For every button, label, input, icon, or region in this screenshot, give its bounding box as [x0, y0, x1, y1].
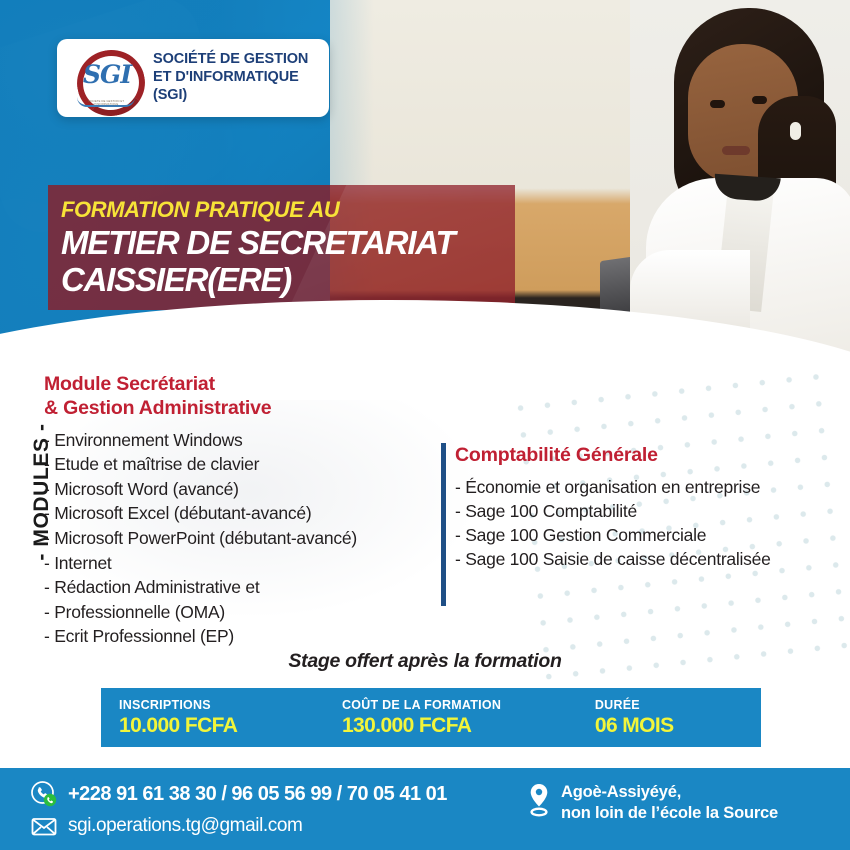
title-banner: FORMATION PRATIQUE AU METIER DE SECRETAR… [48, 185, 515, 310]
list-item: - Microsoft Excel (débutant-avancé) [44, 501, 444, 526]
pricing-bar: INSCRIPTIONS 10.000 FCFA COÛT DE LA FORM… [101, 688, 761, 747]
price-value: 10.000 FCFA [119, 714, 332, 738]
left-module-list: - Environnement Windows - Etude et maîtr… [44, 428, 444, 649]
address-line-2: non loin de l’école la Source [561, 803, 778, 824]
list-item: - Rédaction Administrative et [44, 575, 444, 600]
logo-microtext: SOCIETE DE GESTION ET D'INFORMATIQUE [77, 100, 135, 106]
price-value: 06 MOIS [595, 714, 761, 738]
price-label: DURÉE [595, 698, 761, 712]
list-item: - Etude et maîtrise de clavier [44, 452, 444, 477]
right-column-heading: Comptabilité Générale [455, 443, 845, 467]
list-item: - Professionnelle (OMA) [44, 600, 444, 625]
list-item: - Économie et organisation en entreprise [455, 476, 845, 500]
list-item: - Sage 100 Gestion Commerciale [455, 524, 845, 548]
left-heading-line2: & Gestion Administrative [44, 396, 444, 420]
title-main: METIER DE SECRETARIAT CAISSIER(ERE) [61, 225, 515, 298]
email-address: sgi.operations.tg@gmail.com [68, 815, 302, 837]
left-heading-line1: Module Secrétariat [44, 372, 444, 396]
list-item: - Microsoft PowerPoint (débutant-avancé) [44, 526, 444, 551]
title-kicker: FORMATION PRATIQUE AU [61, 197, 515, 223]
price-cell-duree: DURÉE 06 MOIS [587, 698, 761, 738]
logo-initials: SGI [74, 60, 140, 89]
price-label: COÛT DE LA FORMATION [342, 698, 587, 712]
internship-note: Stage offert après la formation [0, 650, 850, 673]
footer-contact-right[interactable]: Agoè-Assiyéyé, non loin de l’école la So… [527, 782, 778, 824]
poster-canvas: SGI SOCIETE DE GESTION ET D'INFORMATIQUE… [0, 0, 850, 850]
list-item: - Ecrit Professionnel (EP) [44, 624, 444, 649]
whatsapp-phone-icon [30, 780, 58, 808]
address-block: Agoè-Assiyéyé, non loin de l’école la So… [561, 782, 778, 824]
phone-number: +228 91 61 38 30 / 96 05 56 99 / 70 05 4… [68, 783, 447, 806]
list-item: - Sage 100 Comptabilité [455, 500, 845, 524]
phone-row[interactable]: +228 91 61 38 30 / 96 05 56 99 / 70 05 4… [30, 780, 447, 808]
title-line-1: METIER DE SECRETARIAT [61, 225, 515, 262]
earring [790, 122, 801, 140]
left-column-heading: Module Secrétariat & Gestion Administrat… [44, 372, 444, 421]
list-item: - Sage 100 Saisie de caisse décentralisé… [455, 548, 845, 572]
company-name-line1: SOCIÉTÉ DE GESTION [153, 51, 308, 69]
sgi-logo-icon: SGI SOCIETE DE GESTION ET D'INFORMATIQUE [65, 47, 147, 109]
column-divider [441, 443, 446, 606]
price-value: 130.000 FCFA [342, 714, 587, 738]
company-name-line3: (SGI) [153, 87, 308, 105]
modules-right-column: Comptabilité Générale - Économie et orga… [455, 443, 845, 572]
envelope-icon [30, 812, 58, 840]
list-item: - Environnement Windows [44, 428, 444, 453]
logo-card: SGI SOCIETE DE GESTION ET D'INFORMATIQUE… [57, 39, 329, 117]
map-pin-icon [527, 782, 551, 816]
address-line-1: Agoè-Assiyéyé, [561, 782, 778, 803]
price-cell-cout: COÛT DE LA FORMATION 130.000 FCFA [332, 698, 587, 738]
email-row[interactable]: sgi.operations.tg@gmail.com [30, 812, 447, 840]
footer-contact-left: +228 91 61 38 30 / 96 05 56 99 / 70 05 4… [30, 780, 447, 844]
lips [722, 146, 750, 155]
company-name-line2: ET D'INFORMATIQUE [153, 69, 308, 87]
company-name: SOCIÉTÉ DE GESTION ET D'INFORMATIQUE (SG… [153, 51, 308, 104]
eye [710, 100, 725, 108]
title-line-2: CAISSIER(ERE) [61, 262, 515, 299]
contact-footer: +228 91 61 38 30 / 96 05 56 99 / 70 05 4… [0, 768, 850, 850]
eye [752, 96, 767, 104]
modules-left-column: Module Secrétariat & Gestion Administrat… [44, 372, 444, 649]
list-item: - Internet [44, 551, 444, 576]
right-module-list: - Économie et organisation en entreprise… [455, 476, 845, 571]
price-cell-inscriptions: INSCRIPTIONS 10.000 FCFA [101, 698, 332, 738]
price-label: INSCRIPTIONS [119, 698, 332, 712]
list-item: - Microsoft Word (avancé) [44, 477, 444, 502]
